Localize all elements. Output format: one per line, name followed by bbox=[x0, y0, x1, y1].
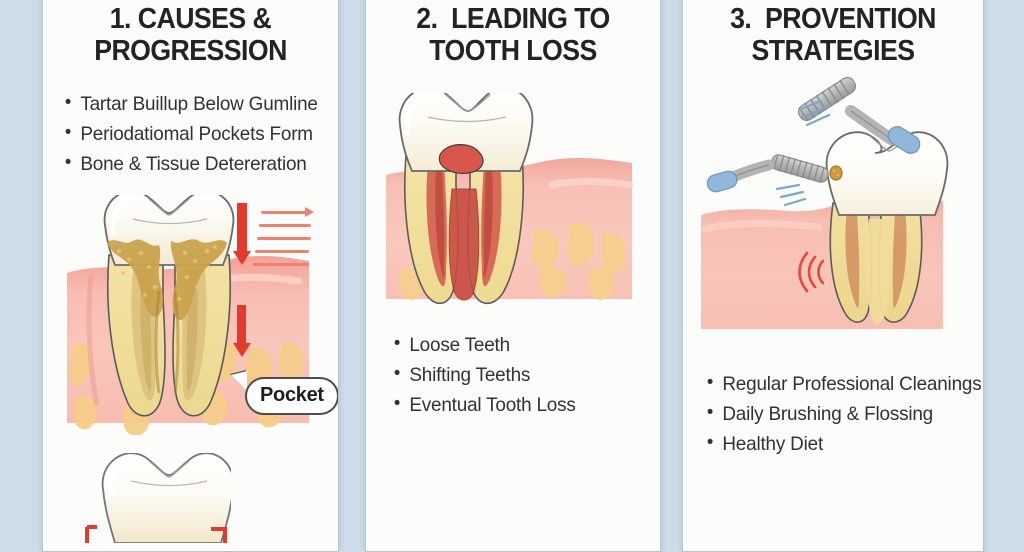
gum-tooth-svg bbox=[384, 93, 634, 308]
brush-motion-lines bbox=[777, 101, 829, 205]
panel-2-title: 2. LEADING TO TOOTH LOSS bbox=[387, 3, 639, 67]
illustration-molar-tartar-pocket: Pocket bbox=[63, 195, 313, 435]
list-item: Tartar Buillup Below Gumline bbox=[59, 89, 330, 119]
panel-2-title-line2: TOOTH LOSS bbox=[429, 35, 596, 67]
tooth-crown-svg bbox=[71, 453, 231, 543]
pocket-bubble-tail bbox=[231, 371, 247, 391]
list-item: Periodatiomal Pockets Form bbox=[59, 119, 330, 149]
panel-1-title-line2: PROGRESSION bbox=[94, 35, 287, 67]
panel-2-title-line1: LEADING TO bbox=[451, 3, 610, 35]
brushes-gum-svg bbox=[699, 77, 949, 347]
panel-2-bullet-list: Loose Teeth Shifting Teeths Eventual Too… bbox=[388, 330, 660, 420]
panel-1-bullet-list: Tartar Buillup Below Gumline Periodatiom… bbox=[59, 89, 338, 179]
panel-3-title: 3. PROVENTION STRATEGIES bbox=[704, 3, 962, 67]
list-item: Shifting Teeths bbox=[388, 360, 652, 390]
plaque-particle-icon bbox=[830, 166, 842, 180]
panel-leading-to-tooth-loss: 2. LEADING TO TOOTH LOSS bbox=[365, 0, 661, 552]
list-item: Bone & Tissue Detereration bbox=[59, 149, 330, 179]
panel-causes-progression: 1. CAUSES & PROGRESSION Tartar Buillup B… bbox=[42, 0, 339, 552]
toothbrush-left-icon bbox=[705, 153, 829, 194]
illustration-molar-inflamed-pulp bbox=[384, 93, 634, 308]
panel-2-title-number: 2. bbox=[416, 3, 437, 35]
panel-1-title-line1b: CAUSES & bbox=[138, 3, 271, 35]
infographic-canvas: 1. CAUSES & PROGRESSION Tartar Buillup B… bbox=[0, 0, 1024, 540]
list-item: Eventual Tooth Loss bbox=[388, 390, 652, 420]
illustration-tooth-crown-cropped bbox=[71, 453, 231, 543]
list-item: Regular Professional Cleanings bbox=[701, 369, 975, 399]
panel-3-title-line2: STRATEGIES bbox=[752, 35, 915, 67]
list-item: Healthy Diet bbox=[701, 429, 975, 459]
list-item: Loose Teeth bbox=[388, 330, 652, 360]
panel-1-title: 1. CAUSES & PROGRESSION bbox=[64, 3, 317, 67]
panel-provention-strategies: 3. PROVENTION STRATEGIES bbox=[682, 0, 984, 552]
panel-1-title-line1: 1. bbox=[110, 3, 131, 35]
panel-3-title-number: 3. bbox=[730, 3, 751, 35]
panel-3-title-line1: PROVENTION bbox=[765, 3, 936, 35]
pocket-callout: Pocket bbox=[245, 377, 339, 415]
list-item: Daily Brushing & Flossing bbox=[701, 399, 975, 429]
red-mark-right-stem bbox=[223, 527, 227, 543]
panel-3-bullet-list: Regular Professional Cleanings Daily Bru… bbox=[701, 369, 983, 459]
illustration-toothbrushes-cleaning bbox=[699, 77, 949, 347]
